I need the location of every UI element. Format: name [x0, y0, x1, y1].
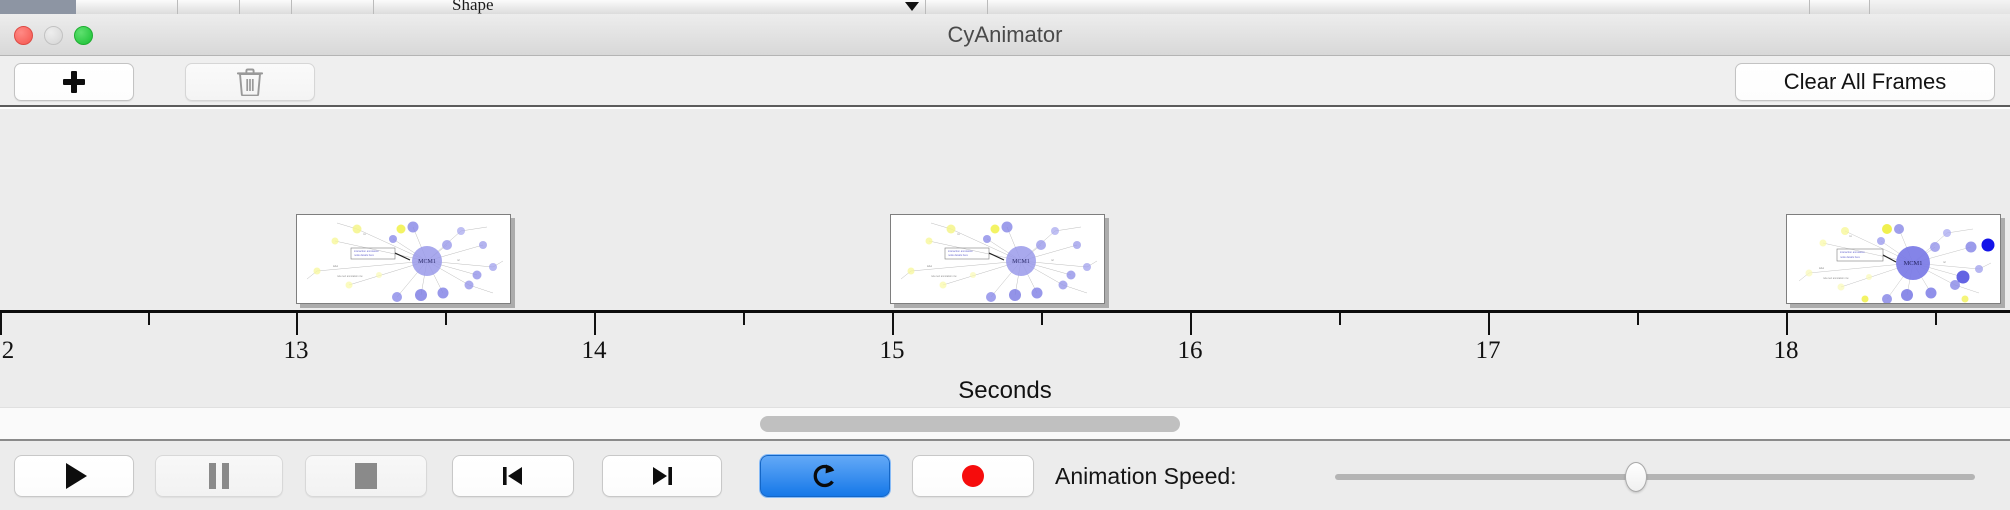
svg-text:label: label [1819, 267, 1825, 270]
titlebar: CyAnimator [0, 14, 2010, 56]
stop-icon [355, 463, 377, 489]
axis-tick-minor [743, 313, 745, 325]
frame-thumbnail[interactable]: interaction annotation node details here… [890, 214, 1105, 304]
plus-icon [62, 70, 86, 94]
svg-text:label: label [927, 265, 933, 268]
animation-speed-slider-thumb[interactable] [1625, 462, 1647, 492]
timeline-scrollbar[interactable] [0, 407, 2010, 441]
background-window-segment [178, 0, 240, 14]
skip-forward-icon [649, 463, 675, 489]
axis-tick-minor [1041, 313, 1043, 325]
frame-thumbnail[interactable]: interaction annotation node details here… [296, 214, 511, 304]
svg-text:node details here: node details here [354, 253, 374, 257]
axis-tick-label: 14 [582, 337, 607, 365]
pause-icon [209, 463, 229, 489]
network-graph-preview: interaction annotation node details here… [1787, 215, 2001, 304]
axis-tick-major [892, 313, 894, 335]
svg-text:node details here: node details here [1840, 255, 1860, 259]
axis-tick-label: 16 [1178, 337, 1203, 365]
axis-tick-major [1786, 313, 1788, 335]
axis-tick-label: 18 [1774, 337, 1799, 365]
axis-tick-label: 2 [2, 337, 15, 365]
svg-text:n1: n1 [363, 233, 366, 236]
background-window-segment [240, 0, 292, 14]
timeline-axis [0, 310, 2010, 313]
background-window-caret-icon [905, 2, 919, 11]
frame-thumbnail[interactable]: interaction annotation node details here… [1786, 214, 2001, 304]
timeline-scrollbar-thumb[interactable] [760, 416, 1180, 432]
background-window-strip: Shape [0, 0, 2010, 14]
loop-icon [810, 461, 840, 491]
skip-end-button[interactable] [602, 455, 722, 497]
axis-tick-label: 17 [1476, 337, 1501, 365]
background-window-label: Shape [452, 0, 494, 14]
hub-node-label: MCM1 [1012, 259, 1030, 265]
svg-text:node details here: node details here [948, 253, 968, 257]
traffic-lights [14, 26, 93, 45]
axis-tick-minor [148, 313, 150, 325]
axis-tick-major [296, 313, 298, 335]
svg-text:label: label [333, 265, 339, 268]
animation-speed-label: Animation Speed: [1055, 455, 1237, 497]
svg-text:n1: n1 [1849, 235, 1852, 238]
skip-start-button[interactable] [452, 455, 574, 497]
axis-tick-major [0, 313, 2, 335]
background-window-segment [988, 0, 1810, 14]
axis-tick-label: 13 [284, 337, 309, 365]
hub-node-label: MCM1 [1904, 260, 1923, 267]
background-window-segment [1810, 0, 1870, 14]
svg-text:n2: n2 [1051, 259, 1054, 262]
stop-button[interactable] [305, 455, 427, 497]
record-icon [959, 462, 987, 490]
axis-tick-minor [1637, 313, 1639, 325]
background-window-segment [76, 0, 178, 14]
axis-tick-major [594, 313, 596, 335]
background-window-segment [926, 0, 988, 14]
record-button[interactable] [912, 455, 1034, 497]
axis-title: Seconds [0, 377, 2010, 405]
svg-text:interaction annotation: interaction annotation [948, 249, 973, 253]
svg-text:note text annotation row: note text annotation row [1823, 277, 1849, 280]
svg-text:n1: n1 [957, 233, 960, 236]
skip-back-icon [500, 463, 526, 489]
background-window-segment [292, 0, 374, 14]
toolbar: Clear All Frames [0, 56, 2010, 107]
play-button[interactable] [14, 455, 134, 497]
timeline-panel[interactable]: interaction annotation node details here… [0, 107, 2010, 407]
minimize-button-icon[interactable] [44, 26, 63, 45]
loop-toggle-button[interactable] [760, 455, 890, 497]
svg-text:interaction annotation: interaction annotation [354, 249, 379, 253]
playback-controls: Animation Speed: [0, 441, 2010, 510]
axis-tick-major [1488, 313, 1490, 335]
svg-text:note text annotation row: note text annotation row [337, 275, 363, 278]
axis-tick-label: 15 [880, 337, 905, 365]
clear-all-frames-button[interactable]: Clear All Frames [1735, 63, 1995, 101]
axis-tick-minor [1339, 313, 1341, 325]
network-graph-preview: interaction annotation node details here… [297, 215, 511, 304]
svg-text:n2: n2 [1943, 261, 1946, 264]
maximize-button-icon[interactable] [74, 26, 93, 45]
svg-text:interaction annotation: interaction annotation [1840, 250, 1865, 254]
play-icon [66, 463, 87, 489]
background-window-sidebar [0, 0, 76, 14]
network-graph-preview: interaction annotation node details here… [891, 215, 1105, 304]
svg-text:n2: n2 [457, 259, 460, 262]
animation-speed-slider[interactable] [1335, 474, 1975, 480]
close-button-icon[interactable] [14, 26, 33, 45]
axis-tick-major [1190, 313, 1192, 335]
hub-node-label: MCM1 [418, 259, 436, 265]
axis-tick-minor [1935, 313, 1937, 325]
svg-text:note text annotation row: note text annotation row [931, 275, 957, 278]
axis-tick-minor [445, 313, 447, 325]
delete-frame-button[interactable] [185, 63, 315, 101]
add-frame-button[interactable] [14, 63, 134, 101]
cyanimator-window: Shape CyAnimator Clear All Frames [0, 0, 2010, 510]
window-title: CyAnimator [0, 14, 2010, 56]
trash-icon [237, 68, 263, 96]
pause-button[interactable] [155, 455, 283, 497]
